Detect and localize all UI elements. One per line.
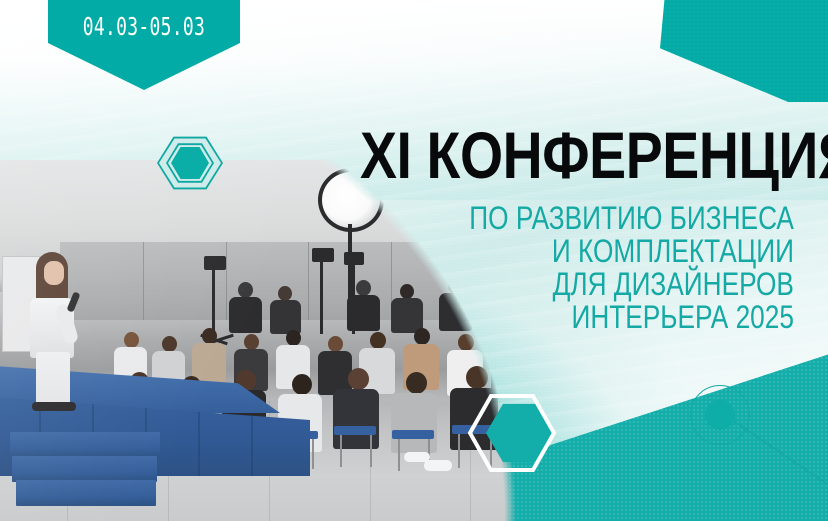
page-title: XI КОНФЕРЕНЦИЯ [360, 122, 828, 188]
hexagon-outline-teal-icon [157, 135, 223, 191]
subtitle-line-2: И КОМПЛЕКТАЦИИ [469, 235, 794, 268]
conference-banner: мтпло 04.03-05.03 XI КОНФЕРЕНЦИЯ ПО РАЗВ… [0, 0, 828, 521]
hexagon-white-stroke [466, 392, 558, 474]
circle-dot-marker-icon [690, 385, 750, 445]
page-subtitle: ПО РАЗВИТИЮ БИЗНЕСА И КОМПЛЕКТАЦИИ ДЛЯ Д… [469, 202, 794, 334]
subtitle-line-1: ПО РАЗВИТИЮ БИЗНЕСА [469, 202, 794, 235]
event-date-text: 04.03-05.03 [83, 12, 205, 41]
subtitle-line-4: ИНТЕРЬЕРА 2025 [469, 301, 794, 334]
hexagon-outline-white-icon [466, 392, 558, 474]
subtitle-line-3: ДЛЯ ДИЗАЙНЕРОВ [469, 268, 794, 301]
